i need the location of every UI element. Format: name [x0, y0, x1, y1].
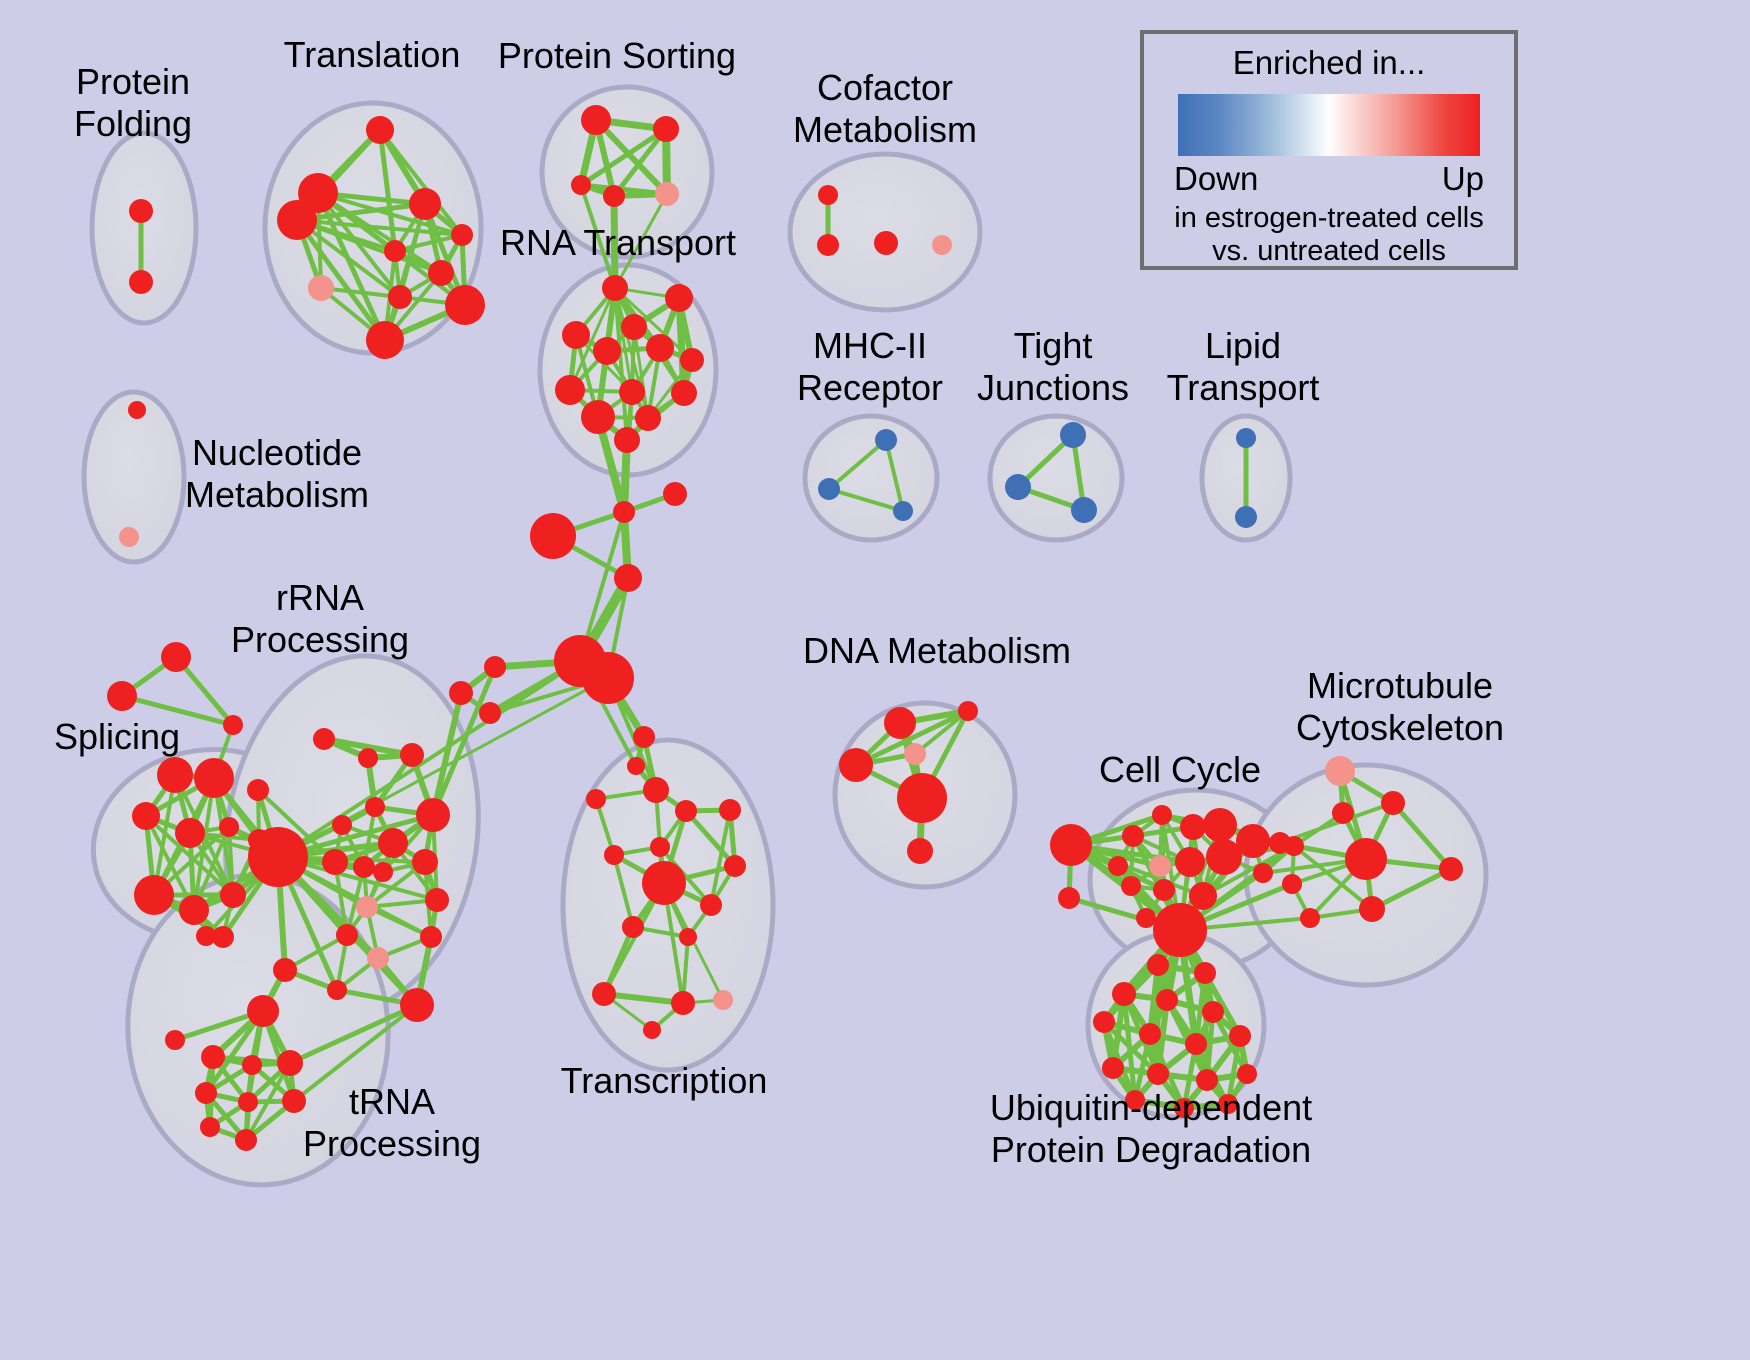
- network-node[interactable]: [663, 482, 687, 506]
- network-node[interactable]: [247, 779, 269, 801]
- network-node[interactable]: [613, 501, 635, 523]
- network-node[interactable]: [400, 743, 424, 767]
- cluster-label-splicing: Splicing: [54, 716, 180, 757]
- network-node[interactable]: [175, 818, 205, 848]
- network-node[interactable]: [1439, 857, 1463, 881]
- network-diagram-canvas: ProteinFoldingTranslationNucleotideMetab…: [0, 0, 1750, 1360]
- network-node[interactable]: [671, 380, 697, 406]
- network-node[interactable]: [581, 105, 611, 135]
- cluster-label-lipid-transport: LipidTransport: [1167, 325, 1320, 408]
- cluster-label-transcription: Transcription: [561, 1060, 768, 1101]
- legend-panel: Enriched in... Down Up in estrogen-treat…: [1140, 30, 1518, 270]
- legend-subtitle-line-1: in estrogen-treated cells: [1144, 202, 1514, 235]
- cluster-label-protein-folding: ProteinFolding: [74, 61, 192, 144]
- network-node[interactable]: [627, 757, 645, 775]
- cluster-label-dna-metabolism: DNA Metabolism: [803, 630, 1071, 671]
- network-node[interactable]: [373, 862, 393, 882]
- network-node[interactable]: [479, 702, 501, 724]
- cluster-label-nucleotide-metabolism: NucleotideMetabolism: [185, 432, 369, 515]
- network-node[interactable]: [1147, 954, 1169, 976]
- edge: [679, 298, 684, 393]
- network-node[interactable]: [273, 958, 297, 982]
- network-node[interactable]: [196, 926, 216, 946]
- network-node[interactable]: [388, 285, 412, 309]
- network-node[interactable]: [129, 270, 153, 294]
- network-node[interactable]: [719, 799, 741, 821]
- network-node[interactable]: [1122, 825, 1144, 847]
- network-node[interactable]: [818, 185, 838, 205]
- network-node[interactable]: [1139, 1023, 1161, 1045]
- network-node[interactable]: [409, 188, 441, 220]
- network-node[interactable]: [313, 728, 335, 750]
- network-node[interactable]: [1071, 497, 1097, 523]
- network-node[interactable]: [161, 642, 191, 672]
- network-node[interactable]: [713, 990, 733, 1010]
- network-node[interactable]: [643, 1021, 661, 1039]
- network-node[interactable]: [1153, 903, 1207, 957]
- network-node[interactable]: [195, 1082, 217, 1104]
- network-node[interactable]: [592, 982, 616, 1006]
- network-node[interactable]: [1194, 962, 1216, 984]
- network-node[interactable]: [875, 429, 897, 451]
- network-node[interactable]: [219, 817, 239, 837]
- network-node[interactable]: [200, 1117, 220, 1137]
- network-node[interactable]: [336, 924, 358, 946]
- network-node[interactable]: [633, 726, 655, 748]
- network-node[interactable]: [653, 116, 679, 142]
- network-node[interactable]: [614, 564, 642, 592]
- network-node[interactable]: [571, 175, 591, 195]
- network-node[interactable]: [1235, 506, 1257, 528]
- network-node[interactable]: [1236, 428, 1256, 448]
- network-node[interactable]: [1345, 838, 1387, 880]
- network-node[interactable]: [1136, 908, 1156, 928]
- network-node[interactable]: [358, 748, 378, 768]
- network-node[interactable]: [1102, 1057, 1124, 1079]
- network-node[interactable]: [425, 888, 449, 912]
- network-node[interactable]: [1253, 863, 1273, 883]
- network-node[interactable]: [897, 773, 947, 823]
- network-node[interactable]: [671, 991, 695, 1015]
- network-node[interactable]: [107, 681, 137, 711]
- network-node[interactable]: [904, 743, 926, 765]
- network-node[interactable]: [134, 875, 174, 915]
- network-node[interactable]: [602, 275, 628, 301]
- network-node[interactable]: [1206, 839, 1242, 875]
- cluster-ellipse-mhc-ii-receptor: [805, 416, 937, 540]
- network-node[interactable]: [907, 838, 933, 864]
- network-node[interactable]: [1332, 802, 1354, 824]
- network-node[interactable]: [201, 1045, 225, 1069]
- network-node[interactable]: [282, 1089, 306, 1113]
- cluster-label-translation: Translation: [284, 34, 461, 75]
- network-node[interactable]: [1147, 1063, 1169, 1085]
- cluster-label-mhc-ii-receptor: MHC-IIReceptor: [797, 325, 943, 408]
- network-node[interactable]: [1189, 882, 1217, 910]
- network-node[interactable]: [614, 427, 640, 453]
- network-node[interactable]: [1093, 1011, 1115, 1033]
- network-node[interactable]: [680, 348, 704, 372]
- network-node[interactable]: [378, 828, 408, 858]
- legend-low-label: Down: [1174, 160, 1258, 198]
- network-node[interactable]: [223, 715, 243, 735]
- cluster-label-cell-cycle: Cell Cycle: [1099, 749, 1261, 790]
- network-node[interactable]: [586, 789, 606, 809]
- network-node[interactable]: [238, 1092, 258, 1112]
- cluster-label-rna-transport: RNA Transport: [500, 222, 736, 263]
- network-node[interactable]: [818, 478, 840, 500]
- network-node[interactable]: [366, 321, 404, 359]
- network-node[interactable]: [581, 400, 615, 434]
- network-node[interactable]: [1237, 1064, 1257, 1084]
- network-node[interactable]: [958, 701, 978, 721]
- network-node[interactable]: [839, 748, 873, 782]
- network-node[interactable]: [451, 224, 473, 246]
- legend-high-label: Up: [1442, 160, 1484, 198]
- network-node[interactable]: [1060, 422, 1086, 448]
- network-node[interactable]: [817, 234, 839, 256]
- network-node[interactable]: [484, 656, 506, 678]
- cluster-label-protein-sorting: Protein Sorting: [498, 35, 736, 76]
- network-node[interactable]: [655, 182, 679, 206]
- network-node[interactable]: [332, 815, 352, 835]
- network-node[interactable]: [1185, 1033, 1207, 1055]
- network-node[interactable]: [622, 916, 644, 938]
- network-node[interactable]: [1050, 824, 1092, 866]
- network-node[interactable]: [603, 185, 625, 207]
- network-node[interactable]: [562, 321, 590, 349]
- network-node[interactable]: [356, 896, 378, 918]
- legend-subtitle: in estrogen-treated cells vs. untreated …: [1144, 202, 1514, 269]
- network-node[interactable]: [646, 334, 674, 362]
- network-node[interactable]: [277, 200, 317, 240]
- network-node[interactable]: [893, 501, 913, 521]
- network-node[interactable]: [179, 895, 209, 925]
- network-node[interactable]: [366, 116, 394, 144]
- network-node[interactable]: [1203, 808, 1237, 842]
- network-node[interactable]: [619, 379, 645, 405]
- cluster-ellipse-protein-folding: [92, 133, 196, 323]
- network-node[interactable]: [724, 855, 746, 877]
- network-node[interactable]: [242, 1055, 262, 1075]
- cluster-label-cofactor-metabolism: CofactorMetabolism: [793, 67, 977, 150]
- network-node[interactable]: [1108, 856, 1128, 876]
- network-node[interactable]: [400, 988, 434, 1022]
- network-node[interactable]: [604, 845, 624, 865]
- network-node[interactable]: [1058, 887, 1080, 909]
- legend-color-gradient-bar: [1178, 94, 1480, 156]
- network-node[interactable]: [665, 284, 693, 312]
- network-node[interactable]: [1284, 836, 1304, 856]
- cluster-label-ubiquitin-protein-degradation: Ubiquitin-dependentProtein Degradation: [990, 1087, 1312, 1170]
- network-node[interactable]: [132, 802, 160, 830]
- network-node[interactable]: [353, 856, 375, 878]
- network-node[interactable]: [445, 285, 485, 325]
- network-node[interactable]: [157, 757, 193, 793]
- network-node[interactable]: [582, 652, 634, 704]
- network-node[interactable]: [1005, 474, 1031, 500]
- network-node[interactable]: [322, 849, 348, 875]
- network-node[interactable]: [1229, 1025, 1251, 1047]
- cluster-label-tight-junctions: TightJunctions: [977, 325, 1129, 408]
- network-node[interactable]: [1180, 814, 1206, 840]
- network-node[interactable]: [530, 513, 576, 559]
- network-node[interactable]: [220, 882, 246, 908]
- network-node[interactable]: [235, 1129, 257, 1151]
- network-node[interactable]: [643, 777, 669, 803]
- legend-title: Enriched in...: [1144, 44, 1514, 82]
- network-node[interactable]: [277, 1050, 303, 1076]
- network-node[interactable]: [247, 995, 279, 1027]
- network-node[interactable]: [194, 758, 234, 798]
- network-node[interactable]: [1153, 879, 1175, 901]
- network-node[interactable]: [1359, 896, 1385, 922]
- network-node[interactable]: [679, 928, 697, 946]
- network-node[interactable]: [165, 1030, 185, 1050]
- network-node[interactable]: [675, 800, 697, 822]
- network-node[interactable]: [449, 681, 473, 705]
- network-node[interactable]: [416, 798, 450, 832]
- network-node[interactable]: [932, 235, 952, 255]
- network-node[interactable]: [621, 314, 647, 340]
- network-node[interactable]: [367, 947, 389, 969]
- network-node[interactable]: [1282, 874, 1302, 894]
- network-node[interactable]: [1325, 756, 1355, 786]
- network-node[interactable]: [874, 231, 898, 255]
- network-node[interactable]: [1175, 847, 1205, 877]
- cluster-label-rrna-processing: rRNAProcessing: [231, 577, 409, 660]
- network-node[interactable]: [884, 707, 916, 739]
- network-node[interactable]: [650, 837, 670, 857]
- network-node[interactable]: [642, 861, 686, 905]
- network-node[interactable]: [593, 337, 621, 365]
- network-node[interactable]: [635, 405, 661, 431]
- network-node[interactable]: [1300, 908, 1320, 928]
- cluster-label-microtubule-cytoskeleton: MicrotubuleCytoskeleton: [1296, 665, 1504, 748]
- network-node[interactable]: [1202, 1001, 1224, 1023]
- network-node[interactable]: [420, 926, 442, 948]
- network-node[interactable]: [129, 199, 153, 223]
- network-node[interactable]: [365, 797, 385, 817]
- network-node[interactable]: [1152, 805, 1172, 825]
- network-node[interactable]: [1149, 855, 1171, 877]
- network-node[interactable]: [412, 849, 438, 875]
- network-node[interactable]: [1381, 791, 1405, 815]
- network-node[interactable]: [119, 527, 139, 547]
- network-node[interactable]: [327, 980, 347, 1000]
- network-node[interactable]: [1112, 982, 1136, 1006]
- network-node[interactable]: [1156, 989, 1178, 1011]
- network-node[interactable]: [555, 375, 585, 405]
- legend-subtitle-line-2: vs. untreated cells: [1144, 235, 1514, 268]
- network-node[interactable]: [1121, 876, 1141, 896]
- network-node[interactable]: [248, 827, 308, 887]
- network-node[interactable]: [384, 240, 406, 262]
- network-node[interactable]: [700, 894, 722, 916]
- network-node[interactable]: [428, 260, 454, 286]
- network-node[interactable]: [308, 275, 334, 301]
- legend-endpoint-labels: Down Up: [1174, 160, 1484, 198]
- network-node[interactable]: [128, 401, 146, 419]
